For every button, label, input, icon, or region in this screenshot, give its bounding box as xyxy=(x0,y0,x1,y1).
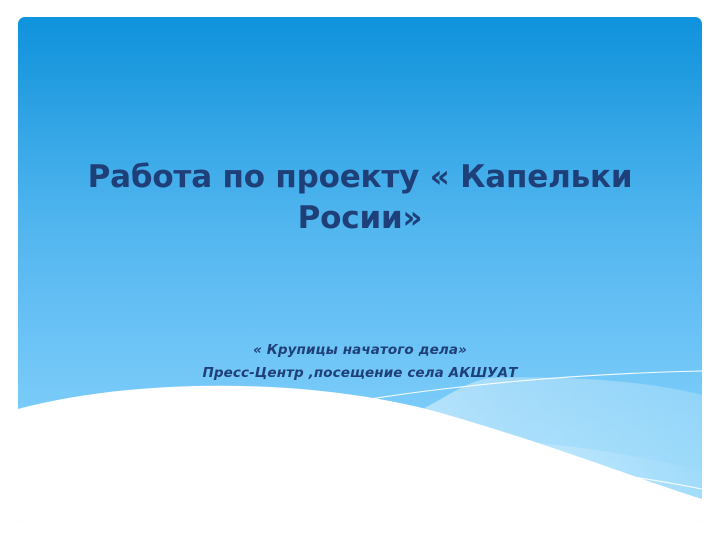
wave-solid-white xyxy=(18,386,702,523)
slide-subtitle-container: « Крупицы начатого дела» Пресс-Центр ,по… xyxy=(60,339,660,385)
wave-band-upper xyxy=(348,377,702,471)
slide-title-container: Работа по проекту « Капельки Росии» xyxy=(60,157,660,239)
subtitle-line-details: Пресс-Центр ,посещение села АКШУАТ xyxy=(60,362,660,385)
subtitle-line-quote: « Крупицы начатого дела» xyxy=(60,339,660,362)
wave-hairline-falling xyxy=(140,439,702,489)
page-title: Работа по проекту « Капельки Росии» xyxy=(60,157,660,239)
slide-canvas: Работа по проекту « Капельки Росии» « Кр… xyxy=(18,17,702,523)
wave-band-lower xyxy=(348,437,702,503)
